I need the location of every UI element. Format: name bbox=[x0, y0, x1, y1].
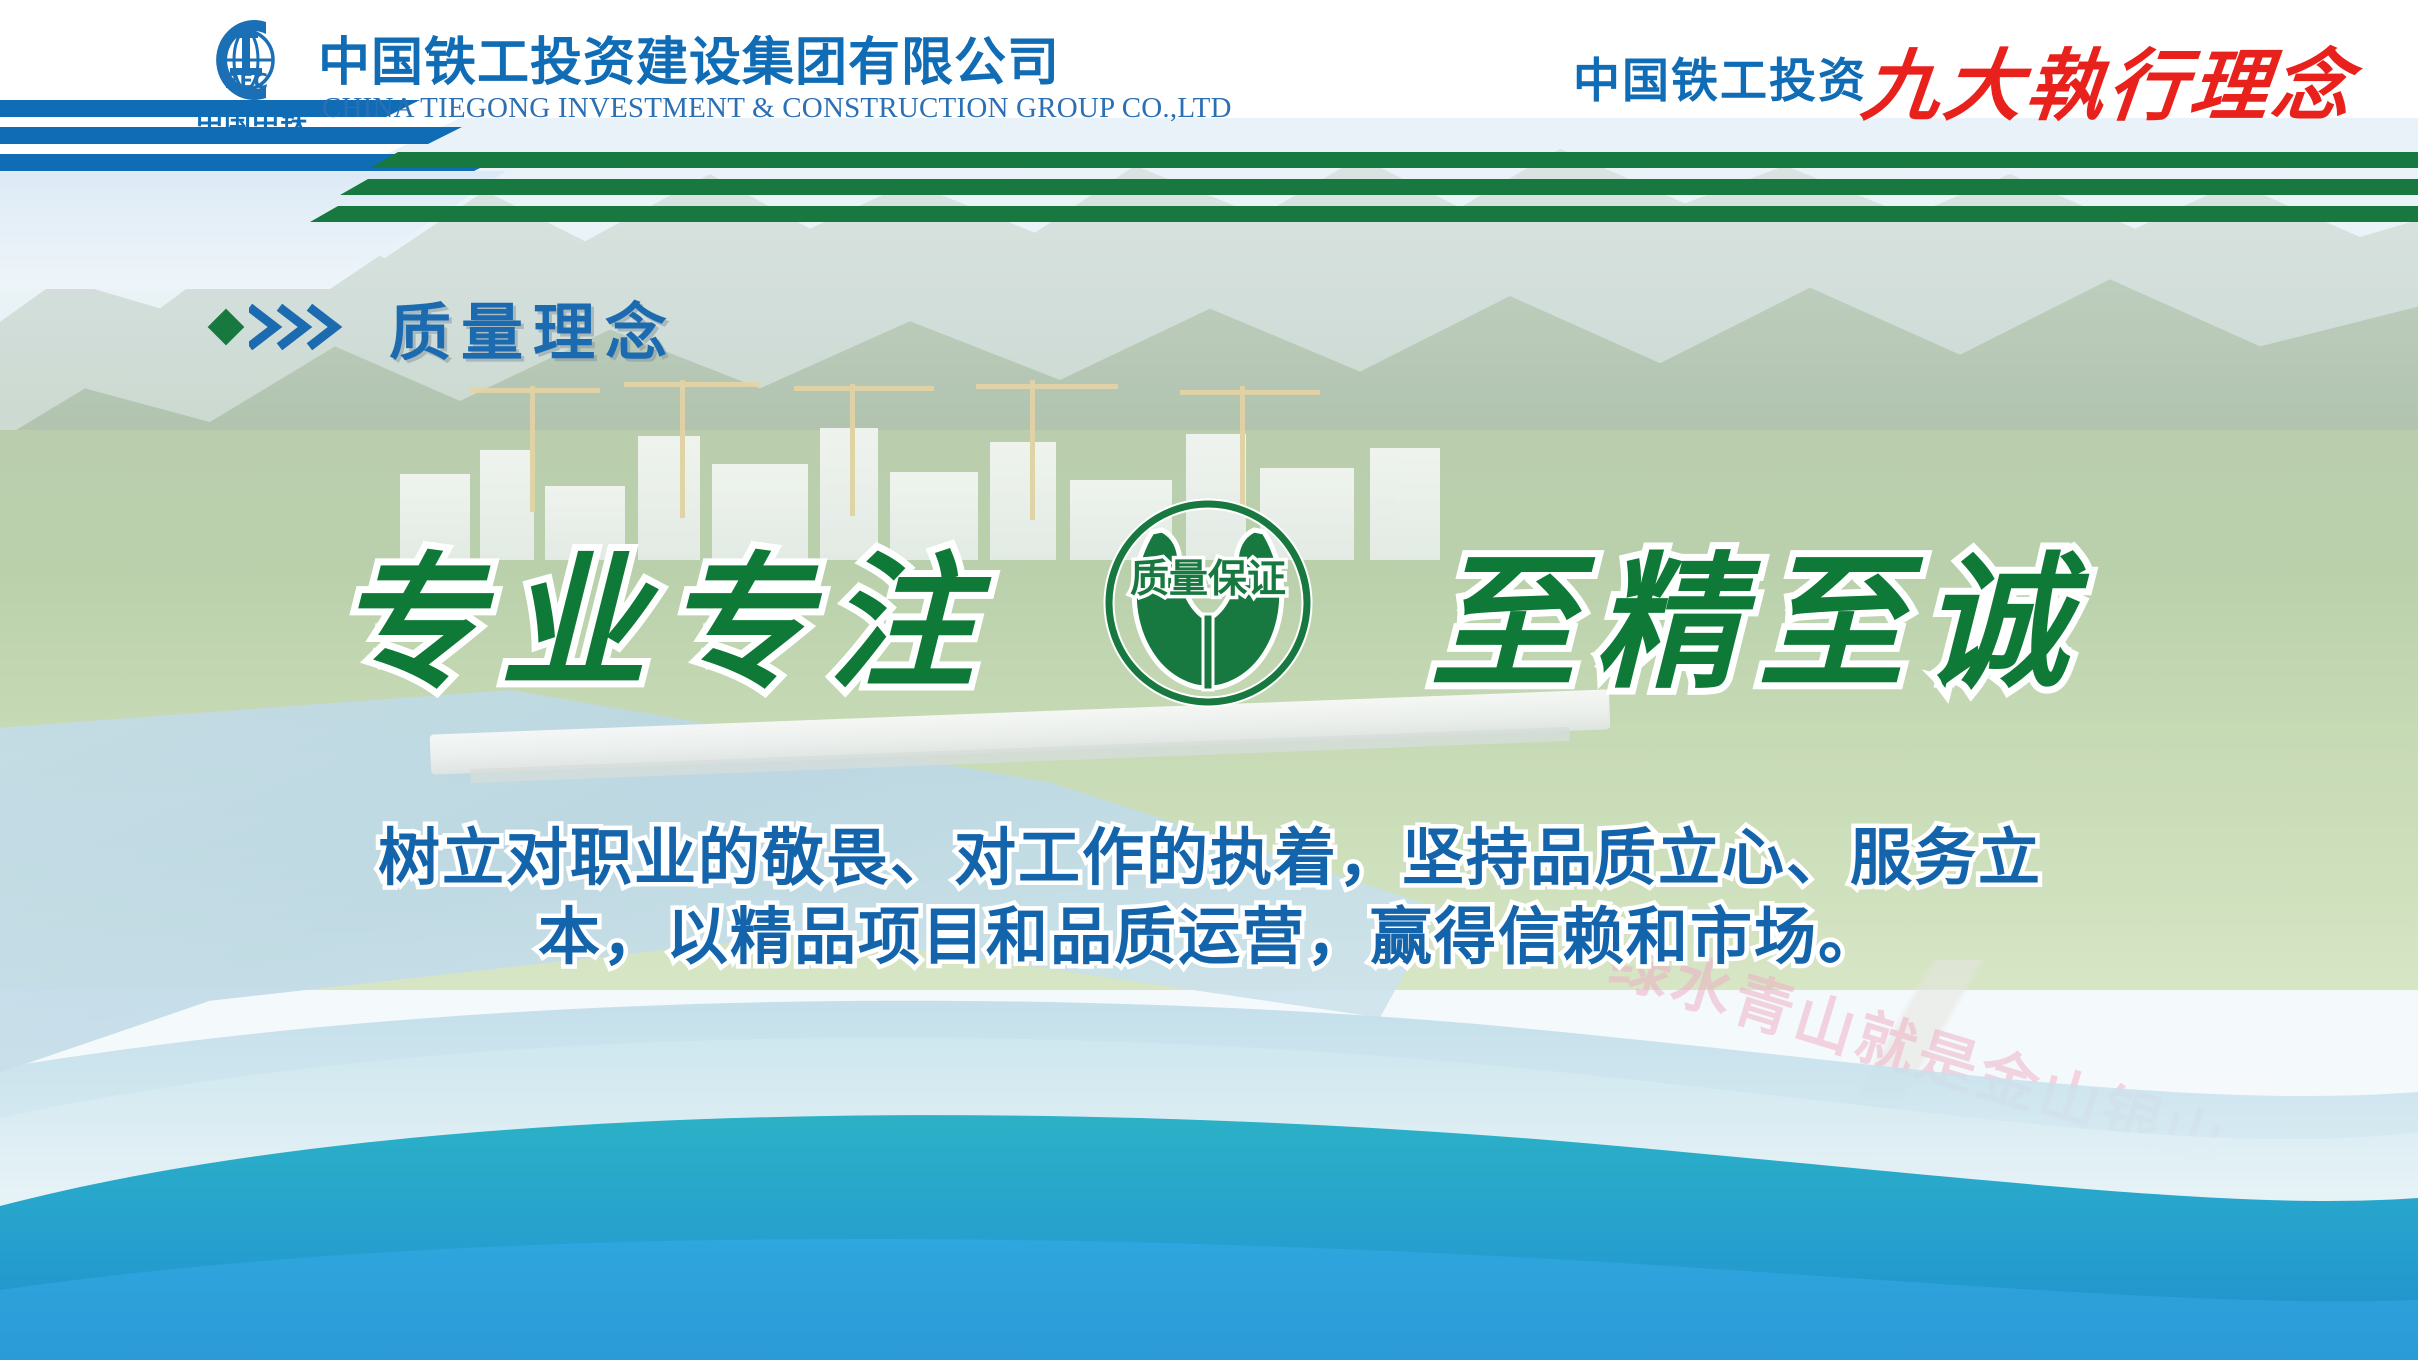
slide-canvas: 绿水青山就是金山银山 bbox=[0, 0, 2418, 1360]
company-name-cn: 中国铁工投资建设集团有限公司 bbox=[318, 20, 1060, 95]
green-stripe-1 bbox=[370, 152, 2418, 168]
slogan-right: 至精至诚 bbox=[1430, 506, 2086, 717]
header-right-prefix: 中国铁工投资 bbox=[1573, 42, 1867, 111]
quality-assurance-seal-icon: 质量保证 bbox=[1088, 496, 1328, 711]
crec-globe-icon: REC bbox=[196, 12, 300, 108]
green-stripe-3 bbox=[310, 206, 2418, 222]
slogan-left: 专业专注 bbox=[336, 506, 992, 717]
emblem-label: 质量保证 bbox=[1130, 557, 1286, 602]
body-paragraph: 树立对职业的敬畏、对工作的执着，坚持品质立心、服务立本，以精品项目和品质运营，赢… bbox=[350, 818, 2070, 977]
section-title-group: 质量理念 bbox=[213, 282, 677, 372]
company-logo: REC bbox=[196, 12, 300, 108]
diamond-icon bbox=[208, 309, 245, 346]
svg-text:REC: REC bbox=[224, 69, 268, 93]
chevrons-right-icon bbox=[249, 304, 367, 350]
section-title-text: 质量理念 bbox=[389, 282, 677, 372]
company-name-en: CHINA TIEGONG INVESTMENT & CONSTRUCTION … bbox=[322, 92, 1232, 125]
bottom-wave-decoration bbox=[0, 960, 2418, 1360]
crec-subtitle-cn: 中国中铁 bbox=[196, 100, 308, 139]
green-stripe-2 bbox=[340, 179, 2418, 195]
header-right-title: 九大執行理念 bbox=[1857, 24, 2361, 136]
